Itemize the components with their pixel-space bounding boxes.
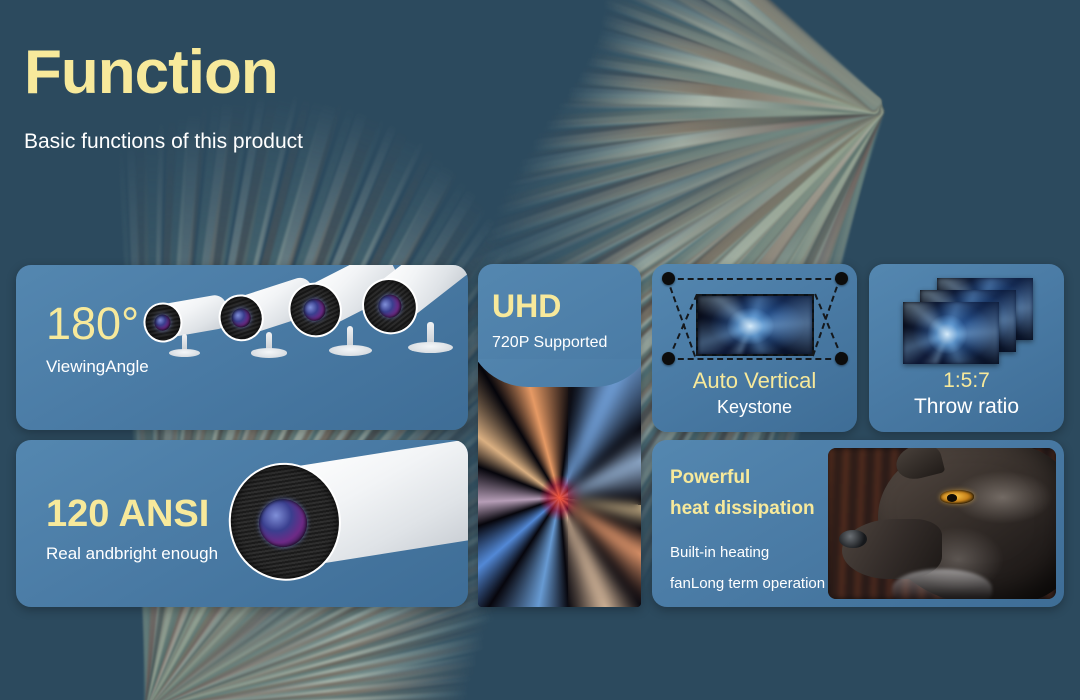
heat-body-line2: fanLong term operation: [670, 570, 845, 598]
card-viewing-angle[interactable]: 180° ViewingAngle: [16, 265, 468, 430]
resolution-title: UHD: [492, 290, 607, 322]
keystone-correction-icon: [662, 272, 847, 364]
keystone-corner-handle[interactable]: [662, 272, 675, 285]
heat-text: Powerful heat dissipation Built-in heati…: [670, 462, 845, 598]
card-keystone[interactable]: Auto Vertical Keystone: [652, 264, 857, 432]
keystone-subtitle: Keystone: [652, 397, 857, 418]
keystone-screen: [696, 294, 814, 356]
flower-sharpness-compare-icon: [478, 359, 641, 607]
wolf-image: [828, 448, 1056, 599]
projector-base: [251, 348, 288, 357]
projector-base: [408, 342, 453, 353]
projector-icon: [16, 440, 468, 607]
keystone-corner-handle[interactable]: [835, 272, 848, 285]
throw-ratio-label: Throw ratio: [869, 395, 1064, 419]
keystone-corner-handle[interactable]: [835, 352, 848, 365]
card-heat-dissipation[interactable]: Powerful heat dissipation Built-in heati…: [652, 440, 1064, 607]
projector-unit: [376, 277, 468, 365]
keystone-guide-line: [666, 278, 696, 357]
keystone-text: Auto Vertical Keystone: [652, 368, 857, 418]
heat-body-line1: Built-in heating: [670, 539, 845, 567]
card-resolution[interactable]: UHD 720P Supported: [478, 264, 641, 607]
throw-ratio-text: 1:5:7 Throw ratio: [869, 369, 1064, 419]
projector-base: [329, 345, 372, 356]
keystone-guide-line: [814, 293, 843, 358]
blue-flower-image: [698, 296, 812, 354]
projector-base: [169, 349, 201, 357]
heat-heading-line1: Powerful: [670, 462, 845, 493]
wolf-photo-icon: [828, 448, 1056, 599]
screen-front: [903, 302, 999, 364]
page-subtitle: Basic functions of this product: [24, 130, 303, 154]
keystone-corner-handle[interactable]: [662, 352, 675, 365]
heat-heading-line2: heat dissipation: [670, 493, 845, 524]
resolution-text: UHD 720P Supported: [492, 290, 607, 352]
wolf-eye: [940, 490, 974, 504]
page-header: Function Basic functions of this product: [24, 42, 303, 154]
resolution-subtitle: 720P Supported: [492, 334, 607, 352]
blur-overlay: [568, 359, 641, 607]
projector-array-icon: [16, 265, 468, 430]
card-throw-ratio[interactable]: 1:5:7 Throw ratio: [869, 264, 1064, 432]
projector-unit: [220, 440, 468, 589]
keystone-title: Auto Vertical: [652, 368, 857, 394]
keystone-guide-line: [668, 278, 841, 280]
stacked-screens-icon: [903, 278, 1033, 366]
throw-ratio-value: 1:5:7: [869, 369, 1064, 393]
page-title: Function: [24, 42, 303, 104]
blue-flower-image: [903, 302, 999, 364]
wolf-nose: [839, 530, 866, 548]
keystone-guide-line: [668, 358, 841, 360]
card-brightness[interactable]: 120 ANSI Real andbright enough: [16, 440, 468, 607]
wolf-pupil: [947, 494, 957, 502]
